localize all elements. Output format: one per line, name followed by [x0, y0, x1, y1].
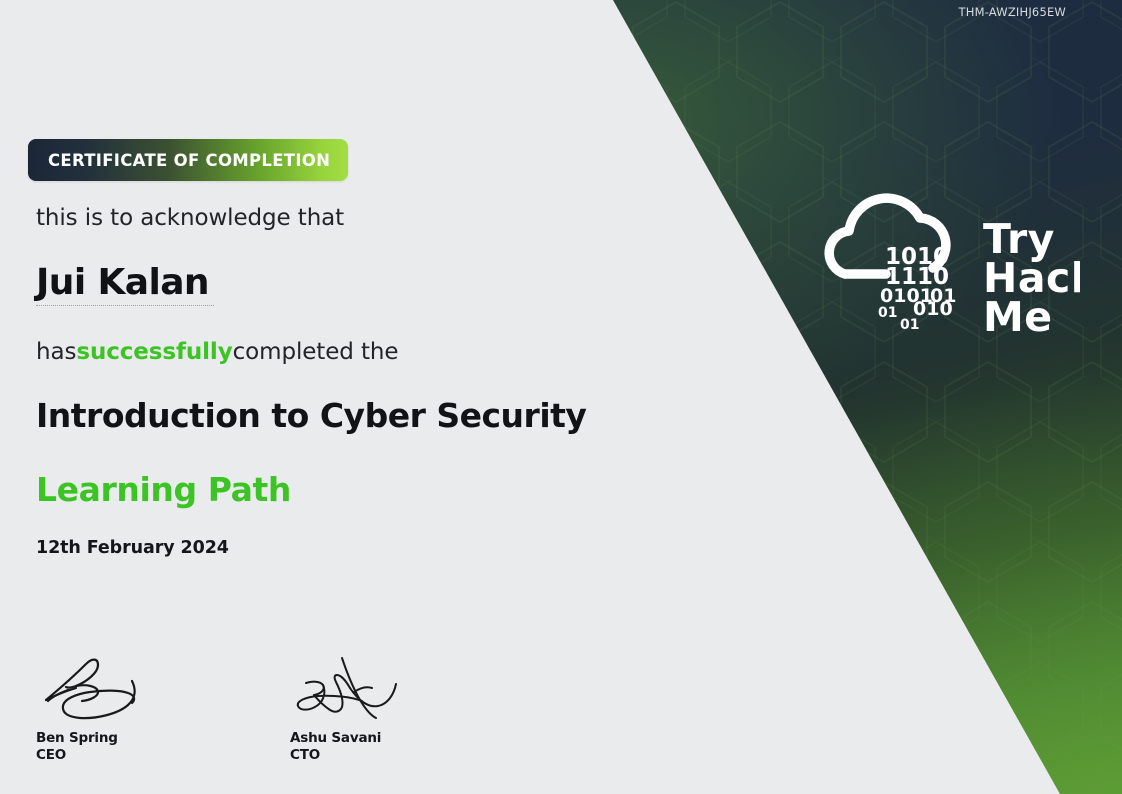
signature-mark-ben-spring — [36, 648, 156, 726]
signatory-name: Ashu Savani — [290, 730, 422, 747]
signature-block-cto: Ashu Savani CTO — [290, 648, 422, 764]
recipient-block: Jui Kalan — [36, 264, 214, 306]
binary-digits: 10 10 1110 0101 01 01 010 01 — [878, 244, 956, 333]
tryhackme-wordmark: Try Hack Me — [983, 215, 1080, 336]
certificate-id: THM-AWZIHJ65EW — [959, 5, 1066, 19]
signatory-role: CEO — [36, 747, 168, 764]
course-title: Introduction to Cyber Security — [36, 396, 586, 435]
completion-statement: hassuccessfullycompleted the — [36, 339, 398, 365]
signatory-role: CTO — [290, 747, 422, 764]
recipient-underline — [36, 305, 214, 306]
completion-highlight: successfully — [76, 339, 232, 365]
recipient-name: Jui Kalan — [36, 264, 214, 302]
svg-text:01: 01 — [900, 317, 919, 333]
certificate-page: THM-AWZIHJ65EW 10 10 1110 0101 01 01 010… — [0, 0, 1122, 794]
completion-badge-label: CERTIFICATE OF COMPLETION — [48, 151, 330, 170]
course-kind: Learning Path — [36, 470, 291, 509]
completion-suffix: completed the — [233, 339, 399, 365]
tryhackme-logo: 10 10 1110 0101 01 01 010 01 Try Hack Me — [800, 186, 1080, 336]
svg-text:01: 01 — [878, 305, 897, 321]
signature-row: Ben Spring CEO Ashu Savani CTO — [36, 648, 422, 764]
issue-date: 12th February 2024 — [36, 538, 229, 558]
completion-prefix: has — [36, 339, 76, 365]
svg-text:Me: Me — [983, 293, 1053, 336]
signature-mark-ashu-savani — [290, 648, 410, 726]
acknowledgement-text: this is to acknowledge that — [36, 205, 344, 231]
completion-badge: CERTIFICATE OF COMPLETION — [28, 139, 348, 181]
signature-block-ceo: Ben Spring CEO — [36, 648, 168, 764]
signatory-name: Ben Spring — [36, 730, 168, 747]
